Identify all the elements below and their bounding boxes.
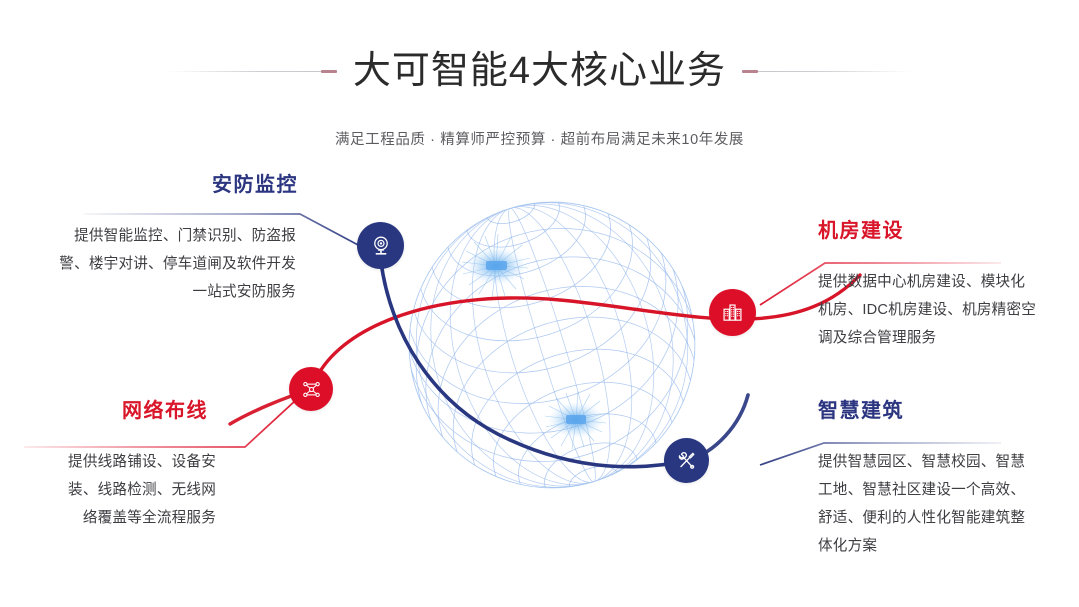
quadrant-cabling-body: 提供线路铺设、设备安 装、线路检测、无线网 络覆盖等全流程服务 (0, 448, 250, 532)
quadrant-datacenter-body: 提供数据中心机房建设、模块化 机房、IDC机房建设、机房精密空 调及综合管理服务 (818, 268, 1070, 352)
body-line: 调及综合管理服务 (818, 330, 936, 346)
slide-canvas: 大可智能4大核心业务 满足工程品质 · 精算师严控预算 · 超前布局满足未来10… (0, 0, 1079, 607)
title-rule-right (742, 71, 912, 72)
quadrant-datacenter: 机房建设 提供数据中心机房建设、模块化 机房、IDC机房建设、机房精密空 调及综… (818, 218, 1070, 352)
node-cabling[interactable] (289, 367, 333, 411)
navy-orbit-arc (381, 262, 687, 467)
body-line: 一站式安防服务 (192, 284, 296, 300)
body-line: 提供智能监控、门禁识别、防盗报 (74, 228, 296, 244)
node-datacenter[interactable] (709, 289, 756, 336)
title-dash-right (742, 70, 758, 73)
quadrant-cabling: 网络布线 提供线路铺设、设备安 装、线路检测、无线网 络覆盖等全流程服务 (0, 398, 250, 532)
quadrant-security-body: 提供智能监控、门禁识别、防盗报 警、楼宇对讲、停车道闸及软件开发 一站式安防服务 (0, 222, 310, 306)
crossed-tools-icon (675, 449, 698, 472)
quadrant-security-title: 安防监控 (0, 172, 310, 198)
body-line: 警、楼宇对讲、停车道闸及软件开发 (59, 256, 296, 272)
network-nodes-icon (300, 378, 323, 401)
globe-hotspot-north (466, 247, 526, 285)
body-line: 舒适、便利的人性化智能建筑整 (818, 510, 1025, 526)
quadrant-security: 安防监控 提供智能监控、门禁识别、防盗报 警、楼宇对讲、停车道闸及软件开发 一站… (0, 172, 310, 306)
body-line: 装、线路检测、无线网 (68, 482, 216, 498)
quadrant-cabling-title: 网络布线 (0, 398, 250, 424)
page-title: 大可智能4大核心业务 (337, 49, 742, 93)
body-line: 体化方案 (818, 538, 877, 554)
quadrant-datacenter-title: 机房建设 (818, 218, 1070, 244)
title-dash-left (321, 70, 337, 73)
body-line: 提供数据中心机房建设、模块化 (818, 274, 1025, 290)
slide-header: 大可智能4大核心业务 满足工程品质 · 精算师严控预算 · 超前布局满足未来10… (0, 24, 1079, 149)
body-line: 提供智慧园区、智慧校园、智慧 (818, 454, 1025, 470)
page-subtitle: 满足工程品质 · 精算师严控预算 · 超前布局满足未来10年发展 (0, 128, 1079, 149)
quadrant-building: 智慧建筑 提供智慧园区、智慧校园、智慧 工地、智慧社区建设一个高效、 舒适、便利… (818, 398, 1070, 560)
globe-hotspot-south (548, 402, 604, 438)
red-orbit-arc (312, 275, 860, 389)
title-row: 大可智能4大核心业务 (0, 24, 1079, 119)
title-rule-left (167, 71, 337, 72)
globe-wireframe (366, 142, 738, 549)
body-line: 络覆盖等全流程服务 (83, 510, 216, 526)
body-line: 机房、IDC机房建设、机房精密空 (818, 302, 1036, 318)
node-security[interactable] (357, 222, 404, 269)
server-building-icon (721, 301, 744, 324)
node-building[interactable] (664, 438, 709, 483)
body-line: 提供线路铺设、设备安 (68, 454, 216, 470)
quadrant-building-body: 提供智慧园区、智慧校园、智慧 工地、智慧社区建设一个高效、 舒适、便利的人性化智… (818, 448, 1070, 560)
security-camera-icon (369, 234, 393, 258)
quadrant-building-title: 智慧建筑 (818, 398, 1070, 424)
body-line: 工地、智慧社区建设一个高效、 (818, 482, 1025, 498)
globe-rim (409, 202, 695, 488)
